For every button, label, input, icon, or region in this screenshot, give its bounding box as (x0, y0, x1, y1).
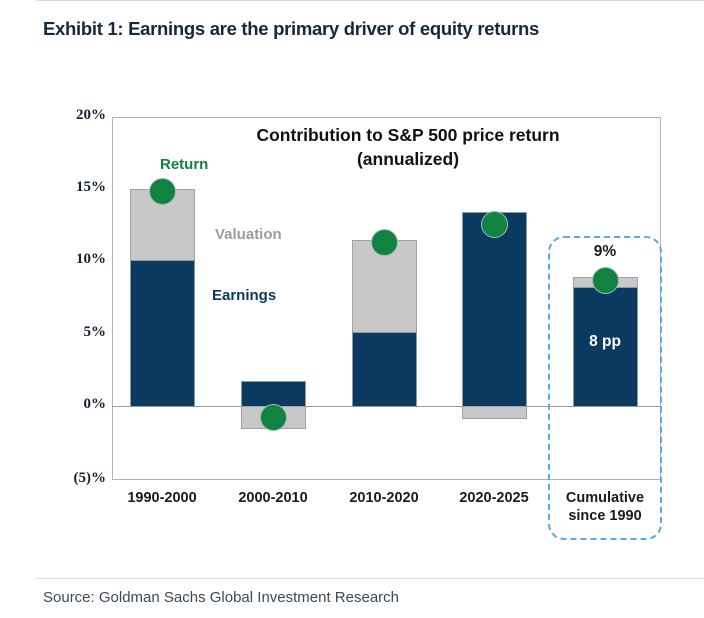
return-marker[interactable] (371, 229, 398, 256)
chart-subtitle-line2: (annualized) (238, 148, 578, 172)
bar-segment-earnings[interactable] (462, 212, 527, 407)
y-tick-label: 5% (44, 324, 106, 341)
y-tick-label: 20% (44, 107, 106, 124)
return-marker[interactable] (260, 404, 287, 431)
chart-subtitle: Contribution to S&P 500 price return (an… (238, 124, 578, 171)
bar-segment-valuation[interactable] (462, 406, 527, 419)
y-tick-label: (5)% (44, 470, 106, 487)
y-tick-label: 15% (44, 179, 106, 196)
source-note: Source: Goldman Sachs Global Investment … (43, 589, 399, 606)
chart-canvas: 20% 15% 10% 5% 0% (5)% Contribution to S… (0, 0, 704, 560)
bar-segment-earnings[interactable] (130, 260, 195, 407)
x-tick-label-2010-2020: 2010-2020 (324, 490, 444, 506)
cumulative-earnings-label: 8 pp (545, 333, 665, 351)
chart-subtitle-line1: Contribution to S&P 500 price return (238, 124, 578, 148)
x-tick-label-cumulative-line1: Cumulative (545, 490, 665, 508)
annotation-valuation: Valuation (215, 226, 282, 243)
return-marker[interactable] (149, 178, 176, 205)
y-tick-label: 0% (44, 396, 106, 413)
bar-segment-earnings[interactable] (352, 332, 417, 407)
y-axis: 20% 15% 10% 5% 0% (5)% (40, 0, 106, 520)
x-tick-label-2020-2025: 2020-2025 (434, 490, 554, 506)
cumulative-return-label: 9% (545, 243, 665, 261)
x-tick-label-1990-2000: 1990-2000 (102, 490, 222, 506)
x-tick-label-cumulative-line2: since 1990 (545, 508, 665, 526)
x-tick-label-cumulative: Cumulative since 1990 (545, 490, 665, 525)
y-tick-label: 10% (44, 251, 106, 268)
annotation-earnings: Earnings (212, 287, 276, 304)
annotation-return: Return (160, 156, 208, 173)
x-tick-label-2000-2010: 2000-2010 (213, 490, 333, 506)
return-marker[interactable] (592, 267, 619, 294)
return-marker[interactable] (481, 211, 508, 238)
footer-divider (36, 578, 704, 579)
